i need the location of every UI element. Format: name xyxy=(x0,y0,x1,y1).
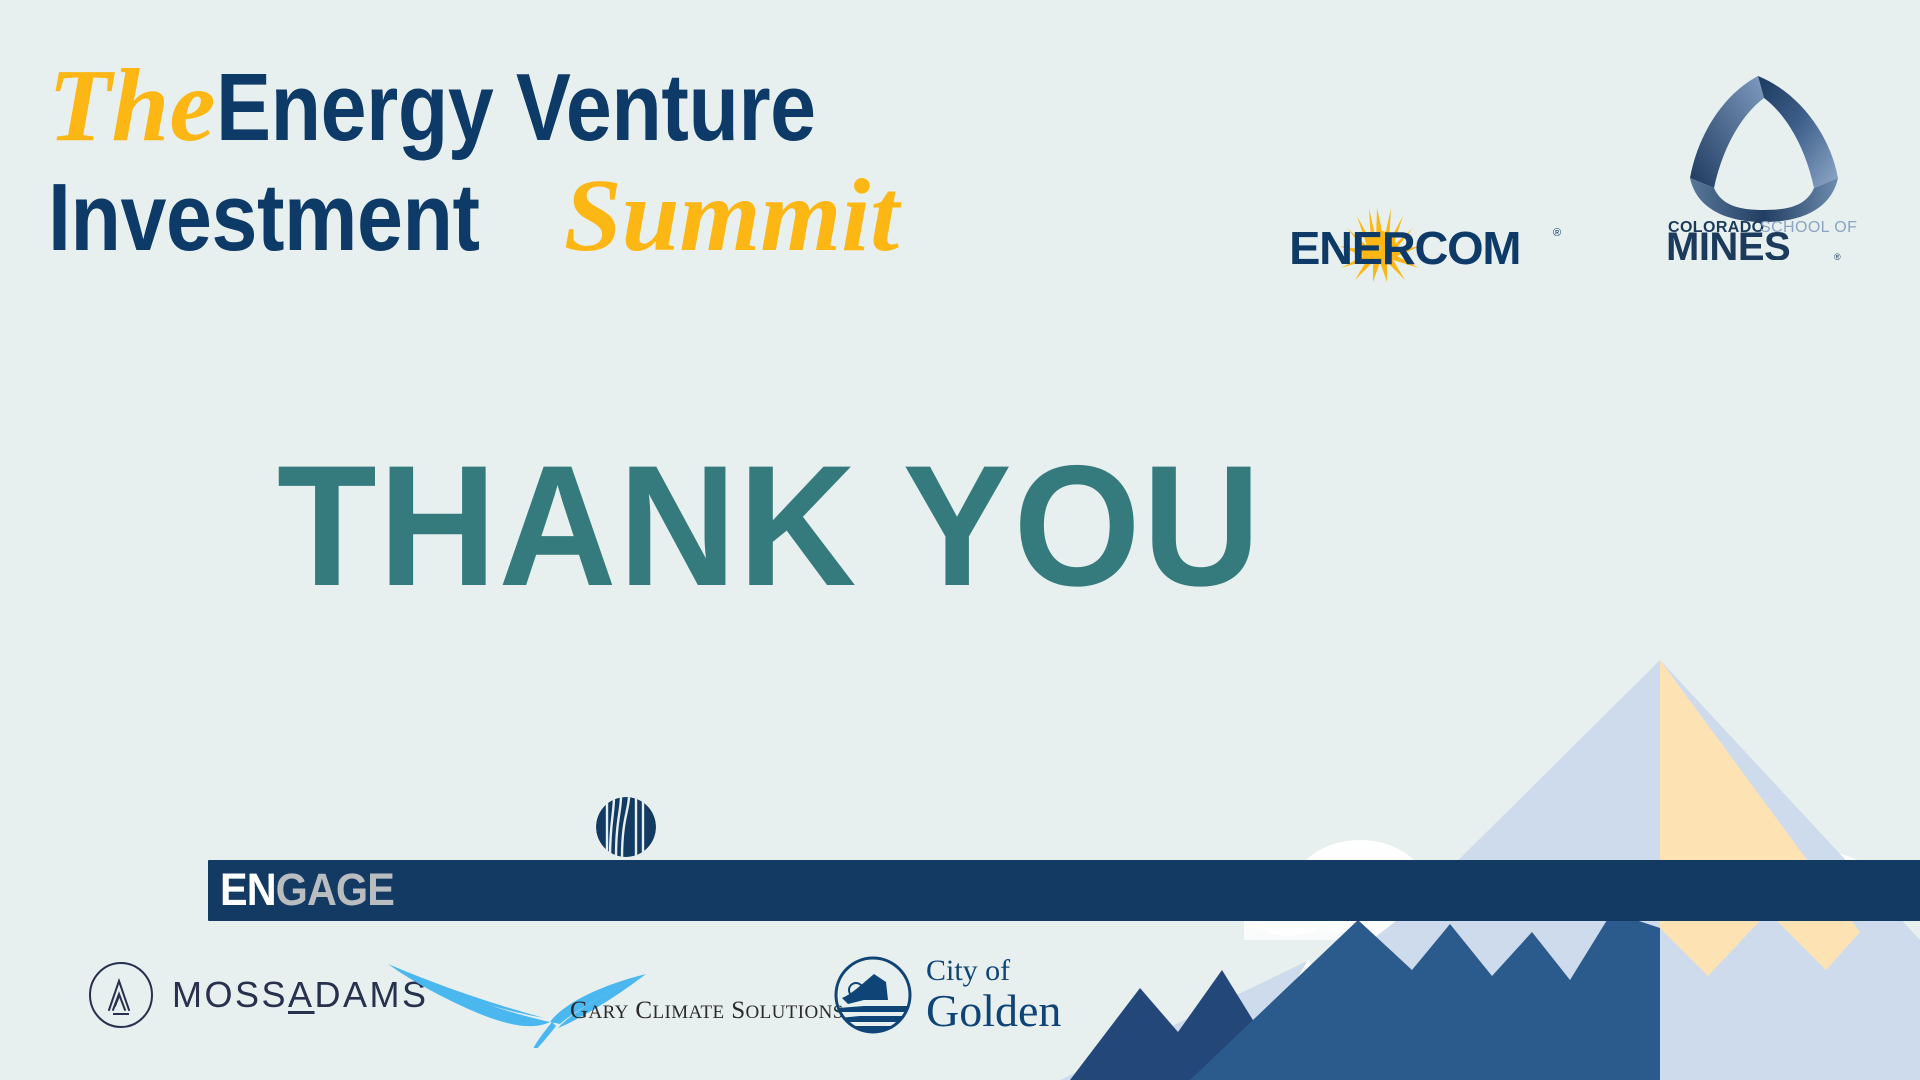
city-of-golden-emblem-icon xyxy=(834,956,912,1034)
snow-triangle xyxy=(1238,960,1378,1080)
sponsor-city-of-golden: City of Golden xyxy=(834,956,1061,1034)
thank-you-headline: THANK YOU xyxy=(0,440,1540,612)
mines-trademark-small: ® xyxy=(1820,195,1826,204)
mines-line2: MINES xyxy=(1666,225,1790,260)
slide-canvas: TheEnergy Venture InvestmentSummit ENERC… xyxy=(0,0,1920,1080)
sponsor-gary-climate-solutions: GARY CLIMATE SOLUTIONS xyxy=(384,952,704,1048)
city-of-golden-line2: Golden xyxy=(926,988,1061,1034)
colorado-school-of-mines-logo: ® COLORADO SCHOOL OF MINES ® xyxy=(1652,60,1864,260)
summit-title: TheEnergy Venture InvestmentSummit xyxy=(48,52,1228,270)
sponsor-nabors: NABORS xyxy=(518,796,735,916)
mountain-highlight-cream xyxy=(1660,660,1860,976)
title-line-1: TheEnergy Venture xyxy=(48,52,1228,160)
title-investment: Investment xyxy=(48,168,480,268)
enercom-wordmark: ENERCOM xyxy=(1289,222,1520,273)
moss-adams-part1: MOSS xyxy=(172,974,288,1015)
mountain-light-left xyxy=(1060,962,1510,1080)
mountain-dark-left xyxy=(1070,970,1290,1080)
gary-w1-cap: G xyxy=(570,997,588,1024)
title-line-2: InvestmentSummit xyxy=(48,162,1228,270)
enercom-trademark: ® xyxy=(1553,227,1561,239)
title-energy-venture: Energy Venture xyxy=(216,58,816,158)
gary-w2-rest: LIMATE xyxy=(652,1002,724,1023)
title-the: The xyxy=(48,48,216,163)
mines-triangle-mark xyxy=(1690,76,1838,222)
sponsor-haynes-boone: HAYNES BOONE xyxy=(826,874,1177,916)
mines-trademark: ® xyxy=(1834,252,1841,260)
enercom-logo: ENERCOM ® xyxy=(1285,206,1565,282)
haynes-boone-wordmark: HAYNES BOONE xyxy=(826,874,1177,916)
nabors-wordmark: NABORS xyxy=(518,866,735,916)
gary-w3-rest: OLUTIONS xyxy=(746,1002,844,1023)
nabors-circle-icon xyxy=(595,796,657,858)
title-summit: Summit xyxy=(564,158,899,273)
sponsor-moss-adams: MOSSADAMS xyxy=(88,962,429,1028)
gary-climate-solutions-wordmark: GARY CLIMATE SOLUTIONS xyxy=(570,998,844,1023)
thank-you-text: THANK YOU xyxy=(277,440,1262,612)
city-of-golden-line1: City of xyxy=(926,956,1061,986)
gary-w1-rest: ARY xyxy=(588,1002,628,1023)
gary-w2-cap: C xyxy=(635,997,652,1024)
moss-adams-part2: A xyxy=(288,974,315,1015)
gary-w3-cap: S xyxy=(731,997,745,1024)
mountain-main xyxy=(1190,912,1660,1080)
engage-part2: GAGE xyxy=(276,864,394,915)
engage-part1: EN xyxy=(220,864,276,915)
moss-adams-monogram-icon xyxy=(88,962,154,1028)
